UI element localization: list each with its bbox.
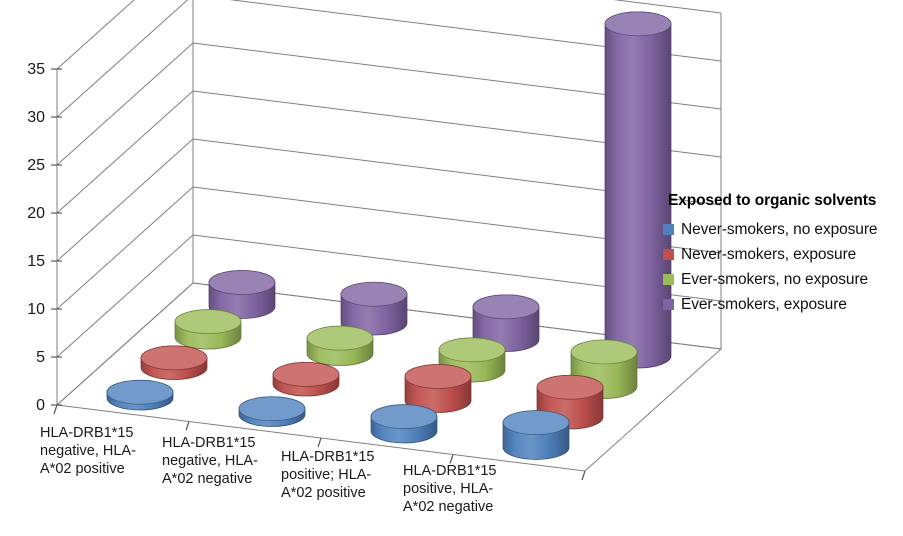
y-axis-tick-label: 5 (36, 349, 45, 366)
bar-cylinder[interactable] (175, 310, 241, 349)
legend-item-never-smokers-exposure[interactable]: Never-smokers, exposure (663, 242, 899, 267)
y-axis-tick-label: 35 (27, 61, 45, 78)
chart-legend: Exposed to organic solvents Never-smoker… (663, 192, 899, 317)
bar-cylinder[interactable] (273, 362, 339, 396)
bar-cylinder[interactable] (605, 12, 671, 368)
legend-swatch-icon (663, 249, 674, 260)
bar-cylinder[interactable] (239, 397, 305, 427)
legend-item-never-smokers-no-exposure[interactable]: Never-smokers, no exposure (663, 217, 899, 242)
legend-swatch-icon (663, 274, 674, 285)
legend-item-label: Ever-smokers, exposure (681, 296, 847, 314)
legend-item-label: Never-smokers, no exposure (681, 221, 877, 239)
legend-title: Exposed to organic solvents (668, 192, 899, 210)
legend-item-ever-smokers-exposure[interactable]: Ever-smokers, exposure (663, 292, 899, 317)
y-axis-tick-label: 30 (27, 109, 45, 126)
y-axis-tick-label: 25 (27, 157, 45, 174)
y-axis-tick-label: 20 (27, 205, 45, 222)
legend-swatch-icon (663, 299, 674, 310)
y-axis-tick-label: 15 (27, 253, 45, 270)
legend-item-label: Ever-smokers, no exposure (681, 271, 868, 289)
chart-container: 05101520253035 HLA-DRB1*15negative, HLA-… (0, 0, 903, 536)
bar-cylinder[interactable] (371, 405, 437, 443)
category-axis-label: HLA-DRB1*15negative, HLA-A*02 positive (40, 425, 136, 477)
category-axis-label: HLA-DRB1*15positive, HLA-A*02 negative (403, 463, 497, 515)
bar-cylinder[interactable] (141, 346, 207, 380)
y-axis-tick-label: 10 (27, 301, 45, 318)
legend-item-ever-smokers-no-exposure[interactable]: Ever-smokers, no exposure (663, 267, 899, 292)
bar-cylinder[interactable] (107, 380, 173, 410)
category-axis-label: HLA-DRB1*15negative, HLA-A*02 negative (162, 435, 258, 487)
legend-swatch-icon (663, 224, 674, 235)
category-axis-label: HLA-DRB1*15positive; HLA-A*02 positive (281, 449, 375, 501)
value-axis: 05101520253035 (27, 61, 585, 480)
bar-cylinder[interactable] (307, 326, 373, 365)
legend-item-label: Never-smokers, exposure (681, 246, 856, 264)
bar-cylinder[interactable] (503, 411, 569, 460)
y-axis-tick-label: 0 (36, 397, 45, 414)
